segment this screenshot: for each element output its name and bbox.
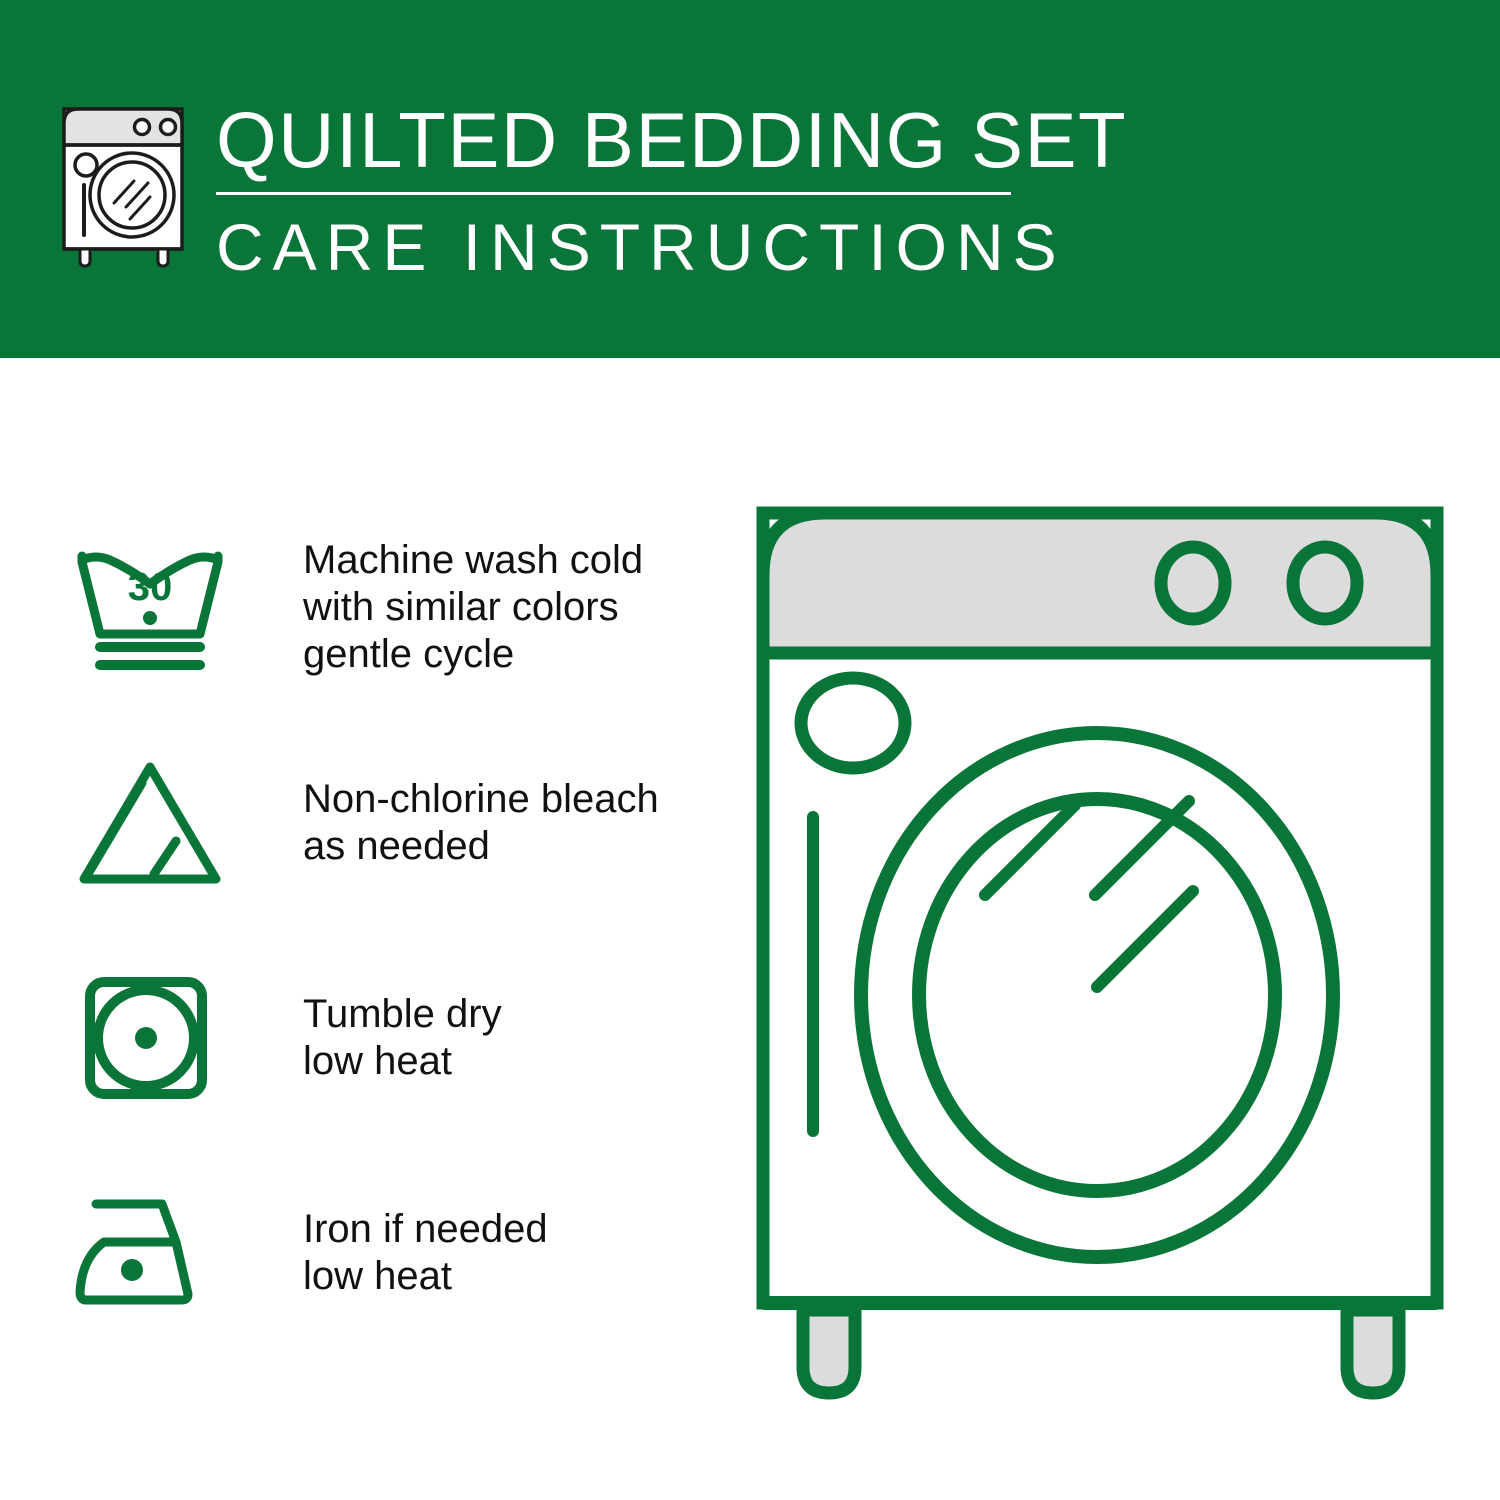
care-instruction-text: Tumble dry low heat bbox=[303, 991, 502, 1085]
iron-low-heat-icon bbox=[70, 1188, 245, 1318]
care-instruction-row: Tumble dry low heat bbox=[70, 930, 730, 1145]
care-text-line: Iron if needed bbox=[303, 1206, 548, 1253]
non-chlorine-bleach-triangle-icon bbox=[70, 753, 245, 893]
care-instruction-text: Non-chlorine bleach as needed bbox=[303, 776, 659, 870]
washing-machine-icon bbox=[58, 103, 198, 268]
care-text-line: Machine wash cold bbox=[303, 537, 643, 584]
care-text-line: Tumble dry bbox=[303, 991, 502, 1038]
page-subtitle: CARE INSTRUCTIONS bbox=[216, 209, 1016, 285]
machine-leg-left bbox=[803, 1310, 855, 1393]
page-title: QUILTED BEDDING SET bbox=[216, 98, 1016, 182]
machine-leg-right bbox=[1347, 1310, 1399, 1393]
care-text-line: low heat bbox=[303, 1038, 502, 1085]
knob-right-icon bbox=[1293, 547, 1357, 619]
care-text-line: with similar colors bbox=[303, 584, 643, 631]
care-instruction-text: Machine wash cold with similar colors ge… bbox=[303, 537, 643, 678]
care-text-line: gentle cycle bbox=[303, 631, 643, 678]
care-text-line: low heat bbox=[303, 1253, 548, 1300]
knob-left-icon bbox=[1161, 547, 1225, 619]
care-instruction-row: Iron if needed low heat bbox=[70, 1145, 730, 1360]
wash-tub-30-gentle-icon: 30 bbox=[70, 538, 245, 678]
care-instruction-list: 30 Machine wash cold with similar colors… bbox=[70, 500, 730, 1360]
front-load-washing-machine-illustration bbox=[745, 495, 1455, 1425]
care-text-line: Non-chlorine bleach bbox=[303, 776, 659, 823]
header-band: QUILTED BEDDING SET CARE INSTRUCTIONS bbox=[0, 0, 1500, 358]
care-instruction-text: Iron if needed low heat bbox=[303, 1206, 548, 1300]
wash-temperature-label: 30 bbox=[128, 565, 173, 609]
care-instruction-row: 30 Machine wash cold with similar colors… bbox=[70, 500, 730, 715]
care-text-line: as needed bbox=[303, 823, 659, 870]
title-divider bbox=[216, 192, 1011, 195]
header-text-block: QUILTED BEDDING SET CARE INSTRUCTIONS bbox=[216, 98, 1016, 285]
care-instruction-row: Non-chlorine bleach as needed bbox=[70, 715, 730, 930]
tumble-dry-low-icon bbox=[70, 968, 245, 1108]
